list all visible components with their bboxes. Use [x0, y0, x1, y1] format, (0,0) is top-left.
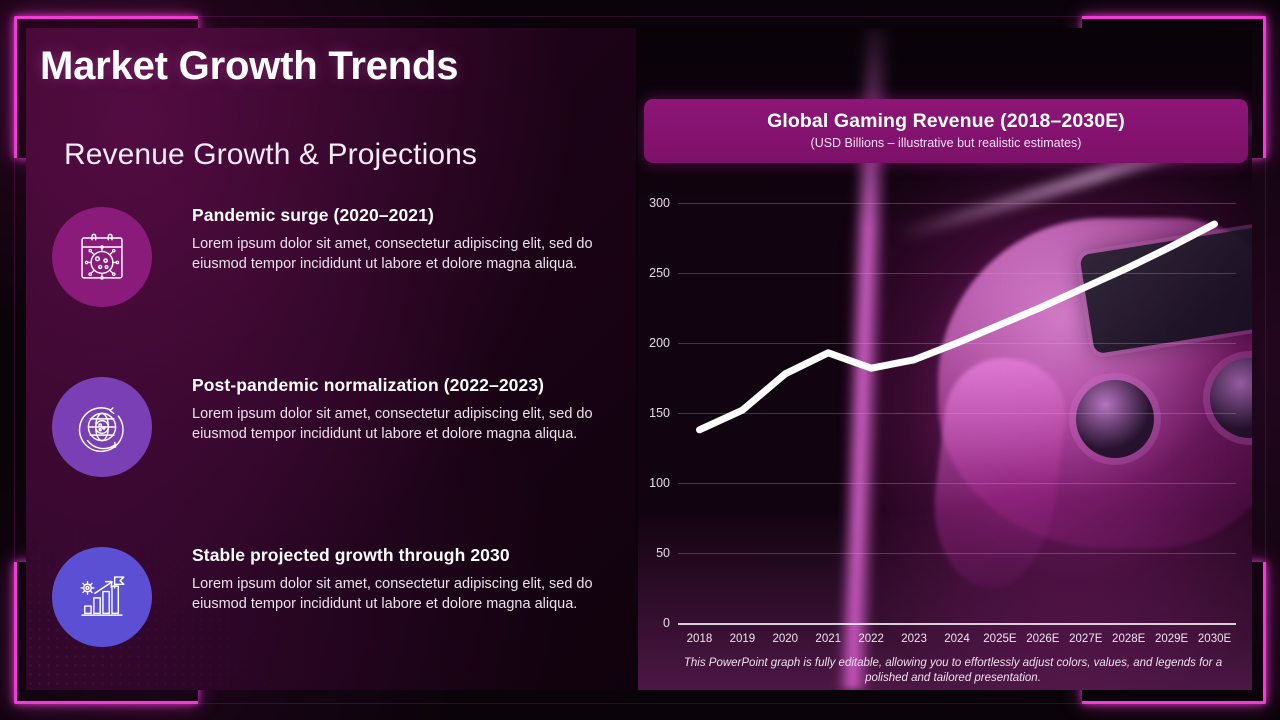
- bullet-body: Lorem ipsum dolor sit amet, consectetur …: [192, 574, 632, 614]
- x-axis-tick-label: 2019: [730, 633, 756, 645]
- y-axis-tick-label: 250: [649, 266, 670, 280]
- x-axis-tick-label: 2023: [901, 633, 927, 645]
- y-axis-tick-label: 100: [649, 476, 670, 490]
- bullet-heading: Pandemic surge (2020–2021): [192, 203, 632, 227]
- slide-canvas: Market Growth Trends Revenue Growth & Pr…: [0, 0, 1280, 720]
- x-axis-tick-label: 2029E: [1155, 633, 1188, 645]
- x-axis-tick-label: 2028E: [1112, 633, 1145, 645]
- gridline: [678, 623, 1236, 625]
- y-axis-tick-label: 300: [649, 196, 670, 210]
- globe-recovery-cycle-icon: [73, 398, 131, 456]
- x-axis-tick-label: 2020: [773, 633, 799, 645]
- virus-calendar-icon: [73, 228, 131, 286]
- chart-editable-note: This PowerPoint graph is fully editable,…: [674, 656, 1232, 686]
- bullet-item[interactable]: Post-pandemic normalization (2022–2023) …: [52, 373, 632, 493]
- bullet-body: Lorem ipsum dolor sit amet, consectetur …: [192, 234, 632, 274]
- bullet-text-block: Pandemic surge (2020–2021) Lorem ipsum d…: [192, 203, 632, 274]
- bullet-icon-circle: [52, 207, 152, 307]
- left-content-panel: Market Growth Trends Revenue Growth & Pr…: [26, 28, 636, 690]
- chart-title-banner: Global Gaming Revenue (2018–2030E) (USD …: [644, 99, 1248, 163]
- y-axis-tick-label: 0: [663, 616, 670, 630]
- x-axis-tick-label: 2030E: [1198, 633, 1231, 645]
- x-axis-tick-label: 2021: [815, 633, 841, 645]
- page-subtitle: Revenue Growth & Projections: [64, 138, 477, 172]
- bullet-body: Lorem ipsum dolor sit amet, consectetur …: [192, 404, 632, 444]
- frame-line-right: [1265, 155, 1266, 567]
- bullet-icon-circle: [52, 377, 152, 477]
- y-axis-tick-label: 200: [649, 336, 670, 350]
- frame-line-bottom: [190, 703, 1096, 704]
- page-title: Market Growth Trends: [40, 44, 458, 89]
- chart-subtitle: (USD Billions – illustrative but realist…: [654, 136, 1238, 150]
- x-axis-tick-label: 2024: [944, 633, 970, 645]
- chart-plot-area: 050100150200250300 201820192020202120222…: [678, 203, 1236, 623]
- x-axis-tick-label: 2022: [858, 633, 884, 645]
- revenue-line-series: [678, 203, 1236, 623]
- bullet-text-block: Stable projected growth through 2030 Lor…: [192, 543, 632, 614]
- growth-bar-chart-flag-icon: [73, 568, 131, 626]
- x-axis-tick-label: 2025E: [983, 633, 1016, 645]
- bullet-heading: Stable projected growth through 2030: [192, 543, 632, 567]
- y-axis-tick-label: 50: [656, 546, 670, 560]
- y-axis-tick-label: 150: [649, 406, 670, 420]
- x-axis-tick-label: 2027E: [1069, 633, 1102, 645]
- chart-panel: Global Gaming Revenue (2018–2030E) (USD …: [638, 28, 1252, 690]
- x-axis-tick-label: 2026E: [1026, 633, 1059, 645]
- frame-line-left: [14, 155, 15, 567]
- chart-title: Global Gaming Revenue (2018–2030E): [654, 110, 1238, 133]
- bullet-item[interactable]: Stable projected growth through 2030 Lor…: [52, 543, 632, 663]
- frame-line-top: [190, 16, 1096, 17]
- x-axis-tick-label: 2018: [687, 633, 713, 645]
- bullet-heading: Post-pandemic normalization (2022–2023): [192, 373, 632, 397]
- bullet-item[interactable]: Pandemic surge (2020–2021) Lorem ipsum d…: [52, 203, 632, 323]
- revenue-line-path: [700, 224, 1215, 430]
- bullet-icon-circle: [52, 547, 152, 647]
- bullet-text-block: Post-pandemic normalization (2022–2023) …: [192, 373, 632, 444]
